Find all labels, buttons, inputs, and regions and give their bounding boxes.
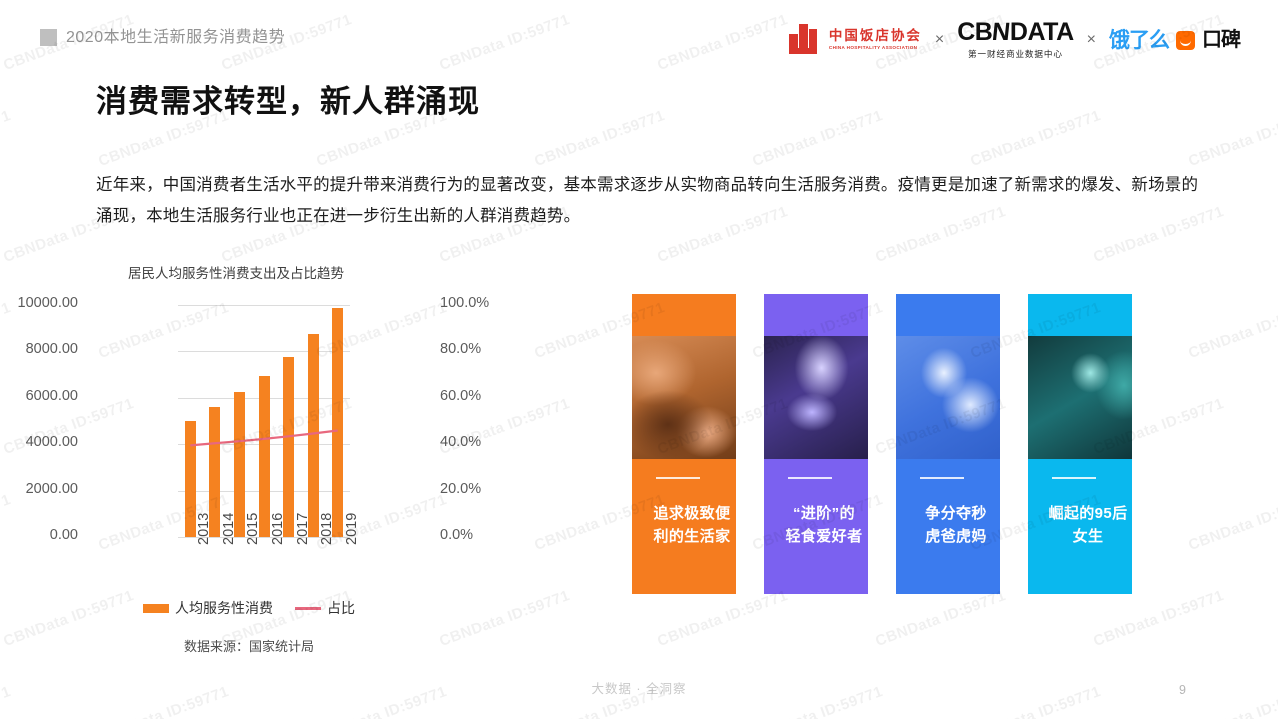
y-axis-tick-left: 8000.00: [26, 341, 78, 357]
watermark-text: CBNData ID:59771: [532, 107, 667, 170]
watermark-text: CBNData ID:59771: [655, 587, 790, 650]
persona-card-label: 争分夺秒虎爸虎妈: [896, 503, 1000, 548]
watermark-text: CBNData ID:59771: [968, 107, 1103, 170]
chart-source: 数据来源：国家统计局: [84, 636, 414, 655]
y-axis-tick-right: 20.0%: [440, 481, 481, 497]
watermark-text: CBNData ID:59771: [1186, 491, 1278, 554]
chart-trend-line: [178, 305, 350, 537]
cbndata-wordmark: CBNDATA: [957, 20, 1073, 45]
page-title: 消费需求转型，新人群涌现: [96, 76, 480, 121]
card-divider: [920, 477, 964, 479]
card-divider: [788, 477, 832, 479]
cbndata-data: DATA: [1010, 20, 1074, 45]
legend-item-line: 占比: [295, 598, 355, 618]
persona-card-label: 崛起的95后女生: [1028, 503, 1132, 548]
lead-paragraph: 近年来，中国消费者生活水平的提升带来消费行为的显著改变，基本需求逐步从实物商品转…: [96, 170, 1200, 231]
y-axis-tick-right: 0.0%: [440, 527, 473, 543]
young-woman-laughing-photo: [1028, 336, 1132, 459]
persona-card-label-line: 女生: [1028, 526, 1132, 549]
persona-card-label: “进阶”的轻食爱好者: [764, 503, 868, 548]
cha-building-icon: [789, 24, 823, 56]
photo-fill: [1028, 336, 1132, 459]
chart-plot-area: 10000.00100.0%8000.0080.0%6000.0060.0%40…: [178, 305, 350, 537]
photo-fill: [896, 336, 1000, 459]
chart-legend: 人均服务性消费 占比: [84, 598, 414, 618]
slide: 2020本地生活新服务消费趋势 中国饭店协会 CHINA HOSPITALITY…: [0, 0, 1278, 719]
koubei-wordmark: 口碑: [1202, 30, 1240, 50]
watermark-text: CBNData ID:59771: [437, 587, 572, 650]
cha-logo: 中国饭店协会 CHINA HOSPITALITY ASSOCIATION: [789, 24, 922, 56]
persona-card-row: 追求极致便利的生活家“进阶”的轻食爱好者争分夺秒虎爸虎妈崛起的95后女生: [632, 294, 1132, 594]
persona-card-body: “进阶”的轻食爱好者: [764, 459, 868, 594]
y-axis-tick-right: 80.0%: [440, 341, 481, 357]
legend-line-swatch: [295, 607, 321, 610]
persona-card[interactable]: “进阶”的轻食爱好者: [764, 294, 868, 594]
y-axis-tick-right: 60.0%: [440, 388, 481, 404]
watermark-text: CBNData ID:59771: [0, 299, 13, 362]
persona-card[interactable]: 争分夺秒虎爸虎妈: [896, 294, 1000, 594]
watermark-text: CBNData ID:59771: [1091, 587, 1226, 650]
watermark-text: CBNData ID:59771: [873, 587, 1008, 650]
chart-title: 居民人均服务性消费支出及占比趋势: [128, 262, 344, 282]
watermark-text: CBNData ID:59771: [750, 107, 885, 170]
persona-card-label-line: 追求极致便: [632, 503, 736, 526]
cbndata-logo: CBNDATA 第一财经商业数据中心: [957, 20, 1073, 60]
persona-card-label-line: 利的生活家: [632, 526, 736, 549]
photo-fill: [632, 336, 736, 459]
persona-card-body: 崛起的95后女生: [1028, 459, 1132, 594]
y-axis-tick-left: 10000.00: [18, 295, 78, 311]
y-axis-tick-left: 0.00: [50, 527, 78, 543]
legend-bar-label: 人均服务性消费: [175, 598, 273, 618]
watermark-text: CBNData ID:59771: [0, 491, 13, 554]
cbndata-n: N: [991, 20, 1011, 45]
y-axis-tick-right: 40.0%: [440, 434, 481, 450]
persona-card-label-line: 崛起的95后: [1028, 503, 1132, 526]
cbndata-cb: CB: [957, 20, 992, 45]
persona-card[interactable]: 崛起的95后女生: [1028, 294, 1132, 594]
cbndata-subtitle: 第一财经商业数据中心: [968, 48, 1063, 60]
logo-row: 中国饭店协会 CHINA HOSPITALITY ASSOCIATION × C…: [789, 20, 1240, 60]
slide-header: 2020本地生活新服务消费趋势 中国饭店协会 CHINA HOSPITALITY…: [0, 0, 1278, 70]
photo-fill: [764, 336, 868, 459]
koubei-smile-icon: [1176, 31, 1195, 50]
eleme-koubei-logo: 饿了么 口碑: [1109, 30, 1240, 51]
eleme-wordmark: 饿了么: [1109, 30, 1169, 51]
woman-lying-on-sofa-photo: [632, 336, 736, 459]
persona-card-label-line: “进阶”的: [764, 503, 868, 526]
legend-line-label: 占比: [327, 598, 355, 618]
logo-separator-1: ×: [935, 31, 944, 49]
y-axis-tick-left: 2000.00: [26, 481, 78, 497]
card-divider: [656, 477, 700, 479]
square-bullet-icon: [40, 29, 57, 46]
legend-item-bar: 人均服务性消费: [143, 598, 273, 618]
y-axis-tick-left: 4000.00: [26, 434, 78, 450]
consumption-chart: 居民人均服务性消费支出及占比趋势 10000.00100.0%8000.0080…: [96, 262, 446, 662]
cha-logo-cn: 中国饭店协会: [829, 29, 922, 43]
persona-card-label: 追求极致便利的生活家: [632, 503, 736, 548]
watermark-text: CBNData ID:59771: [0, 107, 13, 170]
persona-card[interactable]: 追求极致便利的生活家: [632, 294, 736, 594]
page-number: 9: [1179, 683, 1186, 697]
cha-logo-text: 中国饭店协会 CHINA HOSPITALITY ASSOCIATION: [829, 29, 922, 50]
persona-card-body: 追求极致便利的生活家: [632, 459, 736, 594]
persona-card-label-line: 虎爸虎妈: [896, 526, 1000, 549]
y-axis-tick-right: 100.0%: [440, 295, 489, 311]
persona-card-label-line: 轻食爱好者: [764, 526, 868, 549]
kicker-label: 2020本地生活新服务消费趋势: [66, 30, 285, 46]
logo-separator-2: ×: [1087, 31, 1096, 49]
woman-with-salad-bowl-photo: [764, 336, 868, 459]
cha-logo-en: CHINA HOSPITALITY ASSOCIATION: [829, 46, 922, 51]
legend-bar-swatch: [143, 604, 169, 613]
kicker: 2020本地生活新服务消费趋势: [40, 29, 285, 46]
father-and-daughter-photo: [896, 336, 1000, 459]
y-axis-tick-left: 6000.00: [26, 388, 78, 404]
watermark-text: CBNData ID:59771: [1186, 107, 1278, 170]
persona-card-body: 争分夺秒虎爸虎妈: [896, 459, 1000, 594]
card-divider: [1052, 477, 1096, 479]
watermark-text: CBNData ID:59771: [1186, 299, 1278, 362]
persona-card-label-line: 争分夺秒: [896, 503, 1000, 526]
footer-tagline: 大数据 · 全洞察: [0, 678, 1278, 697]
